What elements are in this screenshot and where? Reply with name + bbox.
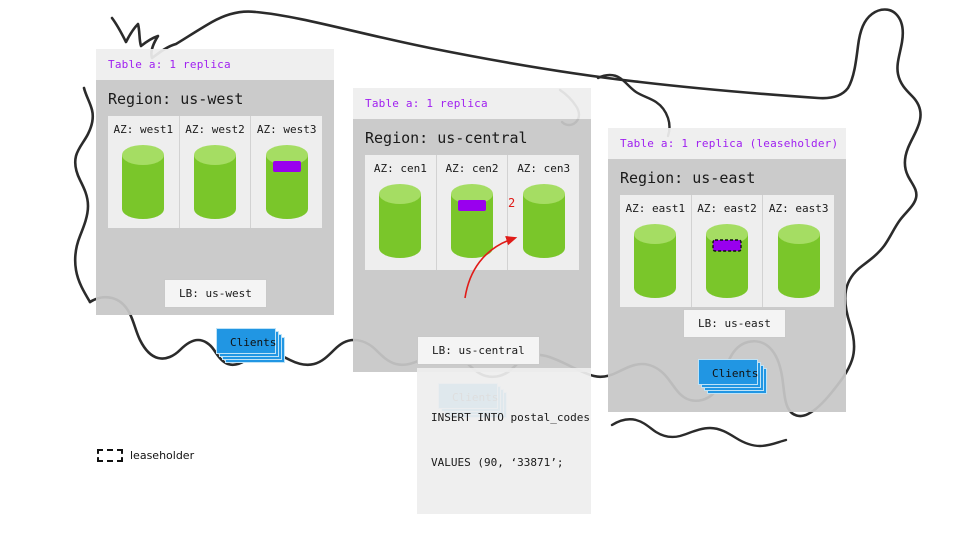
load-balancer-us-east[interactable]: LB: us-east xyxy=(683,309,786,338)
legend: leaseholder xyxy=(97,449,194,462)
table-replica-header: Table a: 1 replica (leaseholder) xyxy=(608,128,846,159)
az-label: AZ: cen2 xyxy=(437,162,508,175)
region-panel-us-east: Table a: 1 replica (leaseholder) Region:… xyxy=(608,128,846,412)
sql-statement-box: INSERT INTO postal_codes VALUES (90, ‘33… xyxy=(417,368,591,514)
az-cell-west3[interactable]: AZ: west3 xyxy=(251,116,322,228)
diagram-canvas: Table a: 1 replica Region: us-west AZ: w… xyxy=(0,0,960,540)
dashed-rect-icon xyxy=(97,449,123,462)
region-title: Region: us-east xyxy=(608,159,846,195)
node-cylinder-cen1[interactable] xyxy=(378,183,422,259)
table-replica-header: Table a: 1 replica xyxy=(96,49,334,80)
az-cell-west1[interactable]: AZ: west1 xyxy=(108,116,180,228)
region-title: Region: us-west xyxy=(96,80,334,116)
replica-marker-leaseholder xyxy=(713,240,741,251)
az-label: AZ: cen3 xyxy=(508,162,579,175)
region-title: Region: us-central xyxy=(353,119,591,155)
node-cylinder-east1[interactable] xyxy=(633,223,677,299)
node-cylinder-west2[interactable] xyxy=(193,144,237,220)
az-label: AZ: cen1 xyxy=(365,162,436,175)
legend-label: leaseholder xyxy=(130,449,194,462)
az-row: AZ: west1 AZ: west2 xyxy=(108,116,322,228)
az-label: AZ: west1 xyxy=(108,123,179,136)
az-cell-east1[interactable]: AZ: east1 xyxy=(620,195,692,307)
az-cell-east2[interactable]: AZ: east2 xyxy=(692,195,764,307)
clients-label[interactable]: Clients xyxy=(216,328,276,354)
az-label: AZ: east3 xyxy=(763,202,834,215)
load-balancer-us-west[interactable]: LB: us-west xyxy=(164,279,267,308)
region-panel-us-west: Table a: 1 replica Region: us-west AZ: w… xyxy=(96,49,334,315)
arrow-step-label: 2 xyxy=(508,196,515,210)
clients-stack-us-west[interactable]: Clients xyxy=(216,328,276,354)
az-cell-west2[interactable]: AZ: west2 xyxy=(180,116,252,228)
az-label: AZ: east2 xyxy=(692,202,763,215)
clients-label[interactable]: Clients xyxy=(698,359,758,385)
region-panel-us-central: Table a: 1 replica Region: us-central AZ… xyxy=(353,88,591,372)
node-cylinder-west1[interactable] xyxy=(121,144,165,220)
sql-line-1: INSERT INTO postal_codes xyxy=(431,410,577,425)
node-cylinder-east3[interactable] xyxy=(777,223,821,299)
load-balancer-us-central[interactable]: LB: us-central xyxy=(417,336,540,365)
clients-stack-us-east[interactable]: Clients xyxy=(698,359,758,385)
az-label: AZ: west3 xyxy=(251,123,322,136)
table-replica-header: Table a: 1 replica xyxy=(353,88,591,119)
az-row: AZ: east1 AZ: east2 xyxy=(620,195,834,307)
az-cell-east3[interactable]: AZ: east3 xyxy=(763,195,834,307)
node-cylinder-west3[interactable] xyxy=(265,144,309,220)
node-cylinder-east2[interactable] xyxy=(705,223,749,299)
az-label: AZ: west2 xyxy=(180,123,251,136)
az-label: AZ: east1 xyxy=(620,202,691,215)
replica-marker xyxy=(273,161,301,172)
routing-arrow-red xyxy=(453,176,563,301)
az-cell-cen1[interactable]: AZ: cen1 xyxy=(365,155,437,270)
sql-line-2: VALUES (90, ‘33871’; xyxy=(431,455,577,470)
